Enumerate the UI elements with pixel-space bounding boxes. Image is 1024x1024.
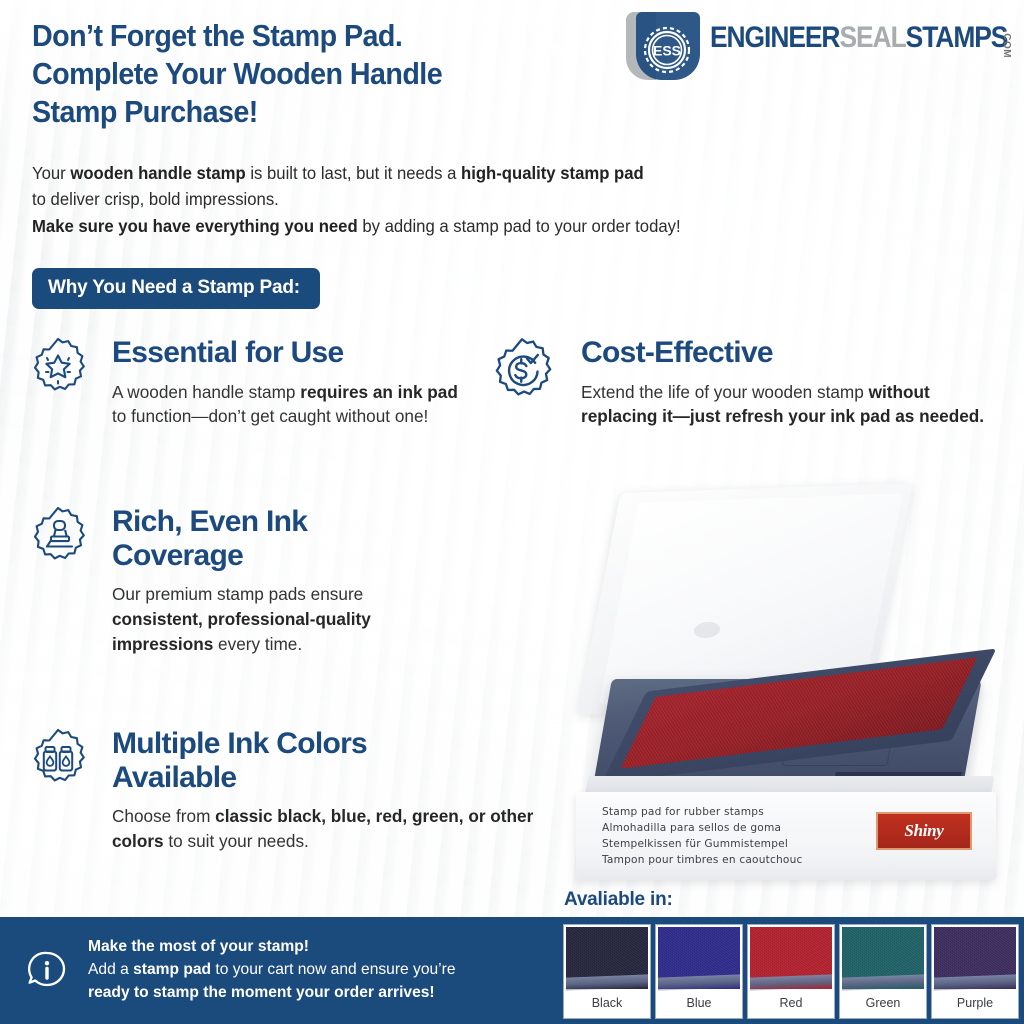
info-bubble-icon	[24, 948, 70, 994]
swatch-label: Black	[566, 989, 648, 1016]
stamp-badge-icon	[26, 505, 90, 569]
intro-line-1: Your wooden handle stamp is built to las…	[32, 160, 877, 186]
headline-line-2: Complete Your Wooden Handle	[32, 56, 615, 94]
intro-text: Your	[32, 163, 70, 183]
cta-text: Make the most of your stamp! Add a stamp…	[88, 936, 456, 1004]
feature-essential-for-use: Essential for Use A wooden handle stamp …	[26, 336, 476, 429]
feature-body: Extend the life of your wooden stamp wit…	[581, 380, 1001, 430]
brand-logo[interactable]: ESS ENGINEERSEALSTAMPS .COM	[626, 16, 1016, 76]
logo-word-seal: SEAL	[839, 21, 905, 54]
logo-word-stamps: STAMPS	[906, 21, 1008, 54]
intro-line-2: to deliver crisp, bold impressions.	[32, 186, 877, 212]
carton-text-line: Stempelkissen für Gummistempel	[602, 838, 788, 850]
swatch-color-chip	[566, 927, 648, 989]
intro-strong-wooden-handle-stamp: wooden handle stamp	[70, 163, 245, 183]
section-banner: Why You Need a Stamp Pad:	[32, 268, 320, 309]
intro-line-3: Make sure you have everything you need b…	[32, 213, 877, 239]
feature-body: Choose from classic black, blue, red, gr…	[112, 804, 542, 854]
color-swatch-purple[interactable]: Purple	[932, 925, 1018, 1018]
swatch-label: Blue	[658, 989, 740, 1016]
feature-title-line-1: Rich, Even Ink	[112, 505, 456, 539]
shiny-brand-logo: Shiny	[876, 812, 972, 850]
carton-text-line: Stamp pad for rubber stamps	[602, 806, 764, 818]
cta-line-2: Add a stamp pad to your cart now and ens…	[88, 959, 456, 982]
swatch-color-chip	[842, 927, 924, 989]
carton-text-line: Tampon pour timbres en caoutchouc	[602, 854, 803, 866]
headline-line-1: Don’t Forget the Stamp Pad.	[32, 18, 615, 56]
feature-title: Essential for Use	[112, 336, 476, 370]
available-colors-label: Avaliable in:	[564, 889, 673, 911]
feature-body-text: to suit your needs.	[164, 831, 309, 851]
cta-text-segment: Add a	[88, 961, 133, 978]
intro-strong-make-sure: Make sure you have everything you need	[32, 216, 358, 236]
logo-word-engineer: ENGINEER	[710, 21, 839, 54]
swatch-label: Red	[750, 989, 832, 1016]
feature-title: Cost-Effective	[581, 336, 997, 370]
logo-mark-text: ESS	[653, 43, 681, 59]
feature-body: A wooden handle stamp requires an ink pa…	[112, 380, 476, 430]
cta-line-3: ready to stamp the moment your order arr…	[88, 982, 456, 1005]
intro-text: by adding a stamp pad to your order toda…	[358, 216, 681, 236]
cta-text-segment: to your cart now and ensure you’re	[211, 961, 455, 978]
dollar-check-badge-icon	[487, 336, 557, 406]
feature-cost-effective: Cost-Effective Extend the life of your w…	[487, 336, 997, 429]
feature-title-line-2: Coverage	[112, 539, 456, 573]
carton-text-line: Almohadilla para sellos de goma	[602, 822, 781, 834]
color-swatch-blue[interactable]: Blue	[656, 925, 742, 1018]
cta-bar[interactable]: Make the most of your stamp! Add a stamp…	[0, 917, 556, 1024]
gear-icon: ESS	[638, 21, 696, 79]
feature-title: Rich, Even Ink Coverage	[112, 505, 456, 572]
page-title: Don’t Forget the Stamp Pad. Complete You…	[32, 18, 615, 131]
color-swatch-panel: Black Blue Red Green Purple	[556, 917, 1024, 1024]
feature-body-strong: requires an ink pad	[300, 382, 458, 402]
infographic-page: Don’t Forget the Stamp Pad. Complete You…	[0, 0, 1024, 1024]
product-photo-stamp-pad: Stamp pad for rubber stamps Almohadilla …	[546, 474, 1024, 884]
swatch-color-chip	[658, 927, 740, 989]
feature-body-text: Our premium stamp pads ensure	[112, 584, 363, 604]
feature-title-line-1: Multiple Ink Colors	[112, 727, 526, 761]
swatch-label: Purple	[934, 989, 1016, 1016]
feature-body-text: Extend the life of your wooden stamp	[581, 382, 869, 402]
swatch-label: Green	[842, 989, 924, 1016]
feature-body-text: A wooden handle stamp	[112, 382, 300, 402]
logo-wordmark: ENGINEERSEALSTAMPS	[710, 23, 1007, 53]
shiny-brand-label: Shiny	[904, 821, 943, 841]
feature-body-text: every time.	[213, 634, 302, 654]
intro-paragraph: Your wooden handle stamp is built to las…	[32, 160, 877, 239]
feature-body-text: to function—don’t get caught without one…	[112, 406, 428, 426]
color-swatch-red[interactable]: Red	[748, 925, 834, 1018]
cta-line-1: Make the most of your stamp!	[88, 936, 456, 959]
feature-rich-even-ink-coverage: Rich, Even Ink Coverage Our premium stam…	[26, 505, 456, 656]
star-badge-icon	[26, 336, 90, 400]
intro-strong-high-quality-stamp-pad: high-quality stamp pad	[461, 163, 644, 183]
swatch-color-chip	[750, 927, 832, 989]
feature-body-text: Choose from	[112, 806, 215, 826]
feature-title: Multiple Ink Colors Available	[112, 727, 526, 794]
feature-title-line-2: Available	[112, 761, 526, 795]
intro-text: is built to last, but it needs a	[246, 163, 461, 183]
logo-word-dotcom: .COM	[1001, 30, 1012, 58]
color-swatch-green[interactable]: Green	[840, 925, 926, 1018]
cta-strong-stamp-pad: stamp pad	[133, 961, 211, 978]
feature-body: Our premium stamp pads ensure consistent…	[112, 582, 456, 656]
swatch-color-chip	[934, 927, 1016, 989]
headline-line-3: Stamp Purchase!	[32, 94, 615, 132]
ink-bottles-badge-icon	[26, 727, 90, 791]
color-swatch-black[interactable]: Black	[564, 925, 650, 1018]
feature-multiple-ink-colors: Multiple Ink Colors Available Choose fro…	[26, 727, 526, 854]
